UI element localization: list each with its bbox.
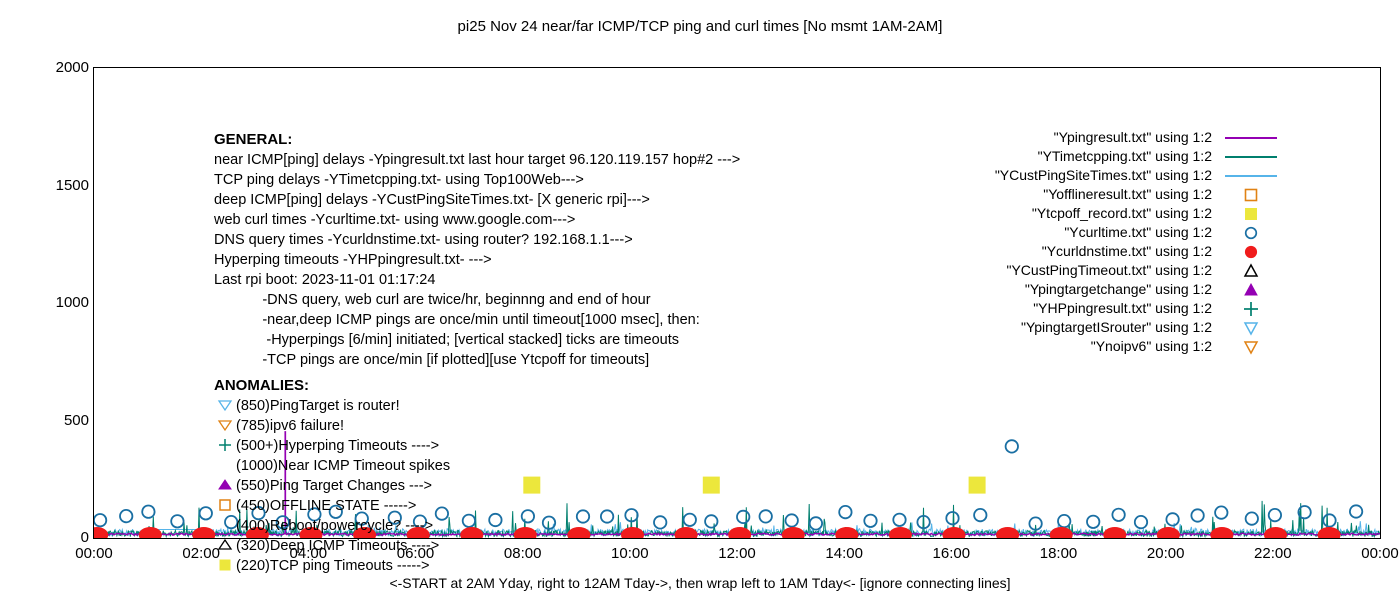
curl-time-point [577,510,589,522]
general-line: DNS query times -Ycurldnstime.txt- using… [214,230,740,250]
dns-time-point [461,528,483,539]
anomaly-plus-green-icon [214,438,236,458]
y-tick-label: 500 [29,412,89,429]
legend-item[interactable]: "YHPpingresult.txt" using 1:2 [995,299,1284,318]
legend-square-filled-icon [1218,206,1284,222]
curl-time-point [839,506,851,518]
y-tick-label: 0 [29,529,89,546]
plot-area: GENERAL: near ICMP[ping] delays -Ypingre… [93,67,1381,539]
x-tick-label: 08:00 [504,545,542,562]
tcp-ping-timeout-marker [969,477,985,493]
y-tick-label: 1000 [29,294,89,311]
curl-time-point [684,514,696,526]
curl-time-point [786,514,798,526]
legend-item[interactable]: "Ytcpoff_record.txt" using 1:2 [995,204,1284,223]
x-tick-label: 00:00 [1361,545,1399,562]
anomaly-row: (1000)Near ICMP Timeout spikes [214,456,450,476]
anomaly-tri-up-open-black-icon [214,538,236,558]
dns-time-point [514,528,536,539]
anomaly-label: (450)OFFLINE STATE -----> [236,498,416,514]
dns-time-point [1104,528,1126,539]
general-line: Hyperping timeouts -YHPpingresult.txt- -… [214,250,740,270]
curl-time-point [974,509,986,521]
y-tick-label: 1500 [29,177,89,194]
x-tick-label: 16:00 [933,545,971,562]
general-line: -near,deep ICMP pings are once/min until… [214,310,740,330]
dns-time-point [622,528,644,539]
legend-line-icon [1218,156,1284,158]
anomaly-row: (400)Reboot/powercycle? ----> [214,516,450,536]
legend-label: "Ycurldnstime.txt" using 1:2 [1042,242,1212,261]
anomaly-row: (500+)Hyperping Timeouts ----> [214,436,450,456]
legend-label: "Ynoipv6" using 1:2 [1091,337,1212,356]
anomaly-label: (400)Reboot/powercycle? ----> [236,518,433,534]
y-tick-label: 2000 [29,59,89,76]
x-tick-label: 10:00 [611,545,649,562]
anomaly-label: (1000)Near ICMP Timeout spikes [236,458,450,474]
anomaly-row: (220)TCP ping Timeouts -----> [214,556,450,576]
curl-time-point [946,512,958,524]
curl-time-point [120,510,132,522]
general-lines: near ICMP[ping] delays -Ypingresult.txt … [214,150,740,370]
legend-line-icon [1218,175,1284,177]
curl-time-point [810,517,822,529]
anomaly-label: (500+)Hyperping Timeouts ----> [236,438,439,454]
dns-time-point [836,528,858,539]
y-axis-label: msec [0,254,4,290]
legend-label: "Ypingtargetchange" using 1:2 [1025,280,1212,299]
legend-line-swatch [1225,156,1277,158]
general-line: TCP ping delays -YTimetcpping.txt- using… [214,170,740,190]
legend-item[interactable]: "Yofflineresult.txt" using 1:2 [995,185,1284,204]
anomaly-rows: (850)PingTarget is router!(785)ipv6 fail… [214,396,450,576]
legend-item[interactable]: "YCustPingTimeout.txt" using 1:2 [995,261,1284,280]
curl-time-point [463,515,475,527]
general-line: -Hyperpings [6/min] initiated; [vertical… [214,330,740,350]
anomaly-label: (320)Deep ICMP Timeouts ----> [236,538,439,554]
curl-time-point [1246,512,1258,524]
general-line: near ICMP[ping] delays -Ypingresult.txt … [214,150,740,170]
anomaly-row: (850)PingTarget is router! [214,396,450,416]
anomalies-annotation-block: ANOMALIES: (850)PingTarget is router!(78… [214,376,450,576]
legend-tri-up-filled-icon [1218,282,1284,298]
dns-time-point [1211,528,1233,539]
curl-time-point [893,514,905,526]
legend-item[interactable]: "Ycurldnstime.txt" using 1:2 [995,242,1284,261]
legend-label: "Ytcpoff_record.txt" using 1:2 [1032,204,1212,223]
general-heading: GENERAL: [214,130,740,150]
curl-time-point [654,516,666,528]
curl-time-point [171,515,183,527]
legend-item[interactable]: "YTimetcpping.txt" using 1:2 [995,147,1284,166]
anomaly-label: (850)PingTarget is router! [236,398,400,414]
legend-label: "YHPpingresult.txt" using 1:2 [1033,299,1212,318]
legend-item[interactable]: "YCustPingSiteTimes.txt" using 1:2 [995,166,1284,185]
anomaly-row: (550)Ping Target Changes ---> [214,476,450,496]
dns-time-point [568,528,590,539]
curl-time-point [1323,514,1335,526]
curl-time-point [489,514,501,526]
legend-item[interactable]: "Ycurltime.txt" using 1:2 [995,223,1284,242]
anomaly-row: (785)ipv6 failure! [214,416,450,436]
tcp-ping-timeout-marker [703,477,719,493]
anomaly-tri-up-filled-purple-icon [214,478,236,498]
anomaly-label: (550)Ping Target Changes ---> [236,478,432,494]
tcp-ping-timeout-marker [524,477,540,493]
legend-line-icon [1218,137,1284,139]
curl-time-point [737,511,749,523]
curl-time-point [1191,509,1203,521]
page-title: pi25 Nov 24 near/far ICMP/TCP ping and c… [0,18,1400,35]
curl-time-point [1215,506,1227,518]
dns-time-point [675,528,697,539]
dns-time-point [1157,528,1179,539]
x-tick-label: 12:00 [718,545,756,562]
curl-time-point [200,507,212,519]
general-line: -DNS query, web curl are twice/hr, begin… [214,290,740,310]
curl-time-point [1135,516,1147,528]
curl-time-point [1166,513,1178,525]
anomaly-square-open-orange-icon [214,498,236,518]
anomaly-row: (450)OFFLINE STATE -----> [214,496,450,516]
dns-time-point [94,528,108,539]
legend-label: "Ypingresult.txt" using 1:2 [1054,128,1212,147]
legend-square-open-icon [1218,187,1284,203]
legend-tri-down-open-icon [1218,320,1284,336]
x-tick-label: 00:00 [75,545,113,562]
curl-time-point [601,510,613,522]
anomalies-heading: ANOMALIES: [214,376,450,396]
x-tick-label: 18:00 [1040,545,1078,562]
legend-tri-down-open-icon [1218,339,1284,355]
anomaly-tri-down-open-orange-icon [214,418,236,438]
dns-time-point [1050,528,1072,539]
legend-label: "YCustPingSiteTimes.txt" using 1:2 [995,166,1212,185]
curl-time-point [760,510,772,522]
legend-label: "YTimetcpping.txt" using 1:2 [1038,147,1212,166]
general-annotation-block: GENERAL: near ICMP[ping] delays -Ypingre… [214,130,740,370]
dns-time-point [997,528,1019,539]
curl-time-point [1269,509,1281,521]
curl-time-point [1087,516,1099,528]
curl-time-point [1006,440,1018,452]
general-line: Last rpi boot: 2023-11-01 01:17:24 [214,270,740,290]
dns-time-point [729,528,751,539]
anomaly-row: (320)Deep ICMP Timeouts ----> [214,536,450,556]
x-tick-label: 14:00 [825,545,863,562]
x-axis-caption: <-START at 2AM Yday, right to 12AM Tday-… [0,575,1400,591]
legend: "Ypingresult.txt" using 1:2"YTimetcpping… [995,128,1284,356]
curl-time-point [142,506,154,518]
x-tick-label: 22:00 [1254,545,1292,562]
curl-time-point [94,514,106,526]
dns-time-point [1265,528,1287,539]
chart-page: pi25 Nov 24 near/far ICMP/TCP ping and c… [0,0,1400,600]
curl-time-point [1112,509,1124,521]
legend-label: "Yofflineresult.txt" using 1:2 [1043,185,1212,204]
legend-tri-up-open-icon [1218,263,1284,279]
legend-line-swatch [1225,137,1277,139]
general-line: deep ICMP[ping] delays -YCustPingSiteTim… [214,190,740,210]
legend-item[interactable]: "Ypingtargetchange" using 1:2 [995,280,1284,299]
legend-plus-icon [1218,301,1284,317]
anomaly-label: (785)ipv6 failure! [236,418,344,434]
anomaly-label: (220)TCP ping Timeouts -----> [236,558,430,574]
x-tick-label: 20:00 [1147,545,1185,562]
legend-item[interactable]: "Ynoipv6" using 1:2 [995,337,1284,356]
curl-time-point [864,515,876,527]
legend-line-swatch [1225,175,1277,177]
dns-time-point [943,528,965,539]
legend-circle-open-icon [1218,225,1284,241]
curl-time-point [1350,505,1362,517]
legend-item[interactable]: "YpingtargetISrouter" using 1:2 [995,318,1284,337]
curl-time-point [705,515,717,527]
general-line: web curl times -Ycurltime.txt- using www… [214,210,740,230]
curl-time-point [522,510,534,522]
legend-label: "YCustPingTimeout.txt" using 1:2 [1006,261,1212,280]
dns-time-point [889,528,911,539]
dns-time-point [139,528,161,539]
anomaly-tri-down-open-lightblue-icon [214,398,236,418]
legend-label: "YpingtargetISrouter" using 1:2 [1021,318,1212,337]
legend-circle-filled-icon [1218,244,1284,260]
dns-time-point [782,528,804,539]
legend-label: "Ycurltime.txt" using 1:2 [1064,223,1212,242]
curl-time-point [1058,515,1070,527]
general-line: -TCP pings are once/min [if plotted][use… [214,350,740,370]
legend-item[interactable]: "Ypingresult.txt" using 1:2 [995,128,1284,147]
dns-time-point [193,528,215,539]
dns-time-point [1318,528,1340,539]
